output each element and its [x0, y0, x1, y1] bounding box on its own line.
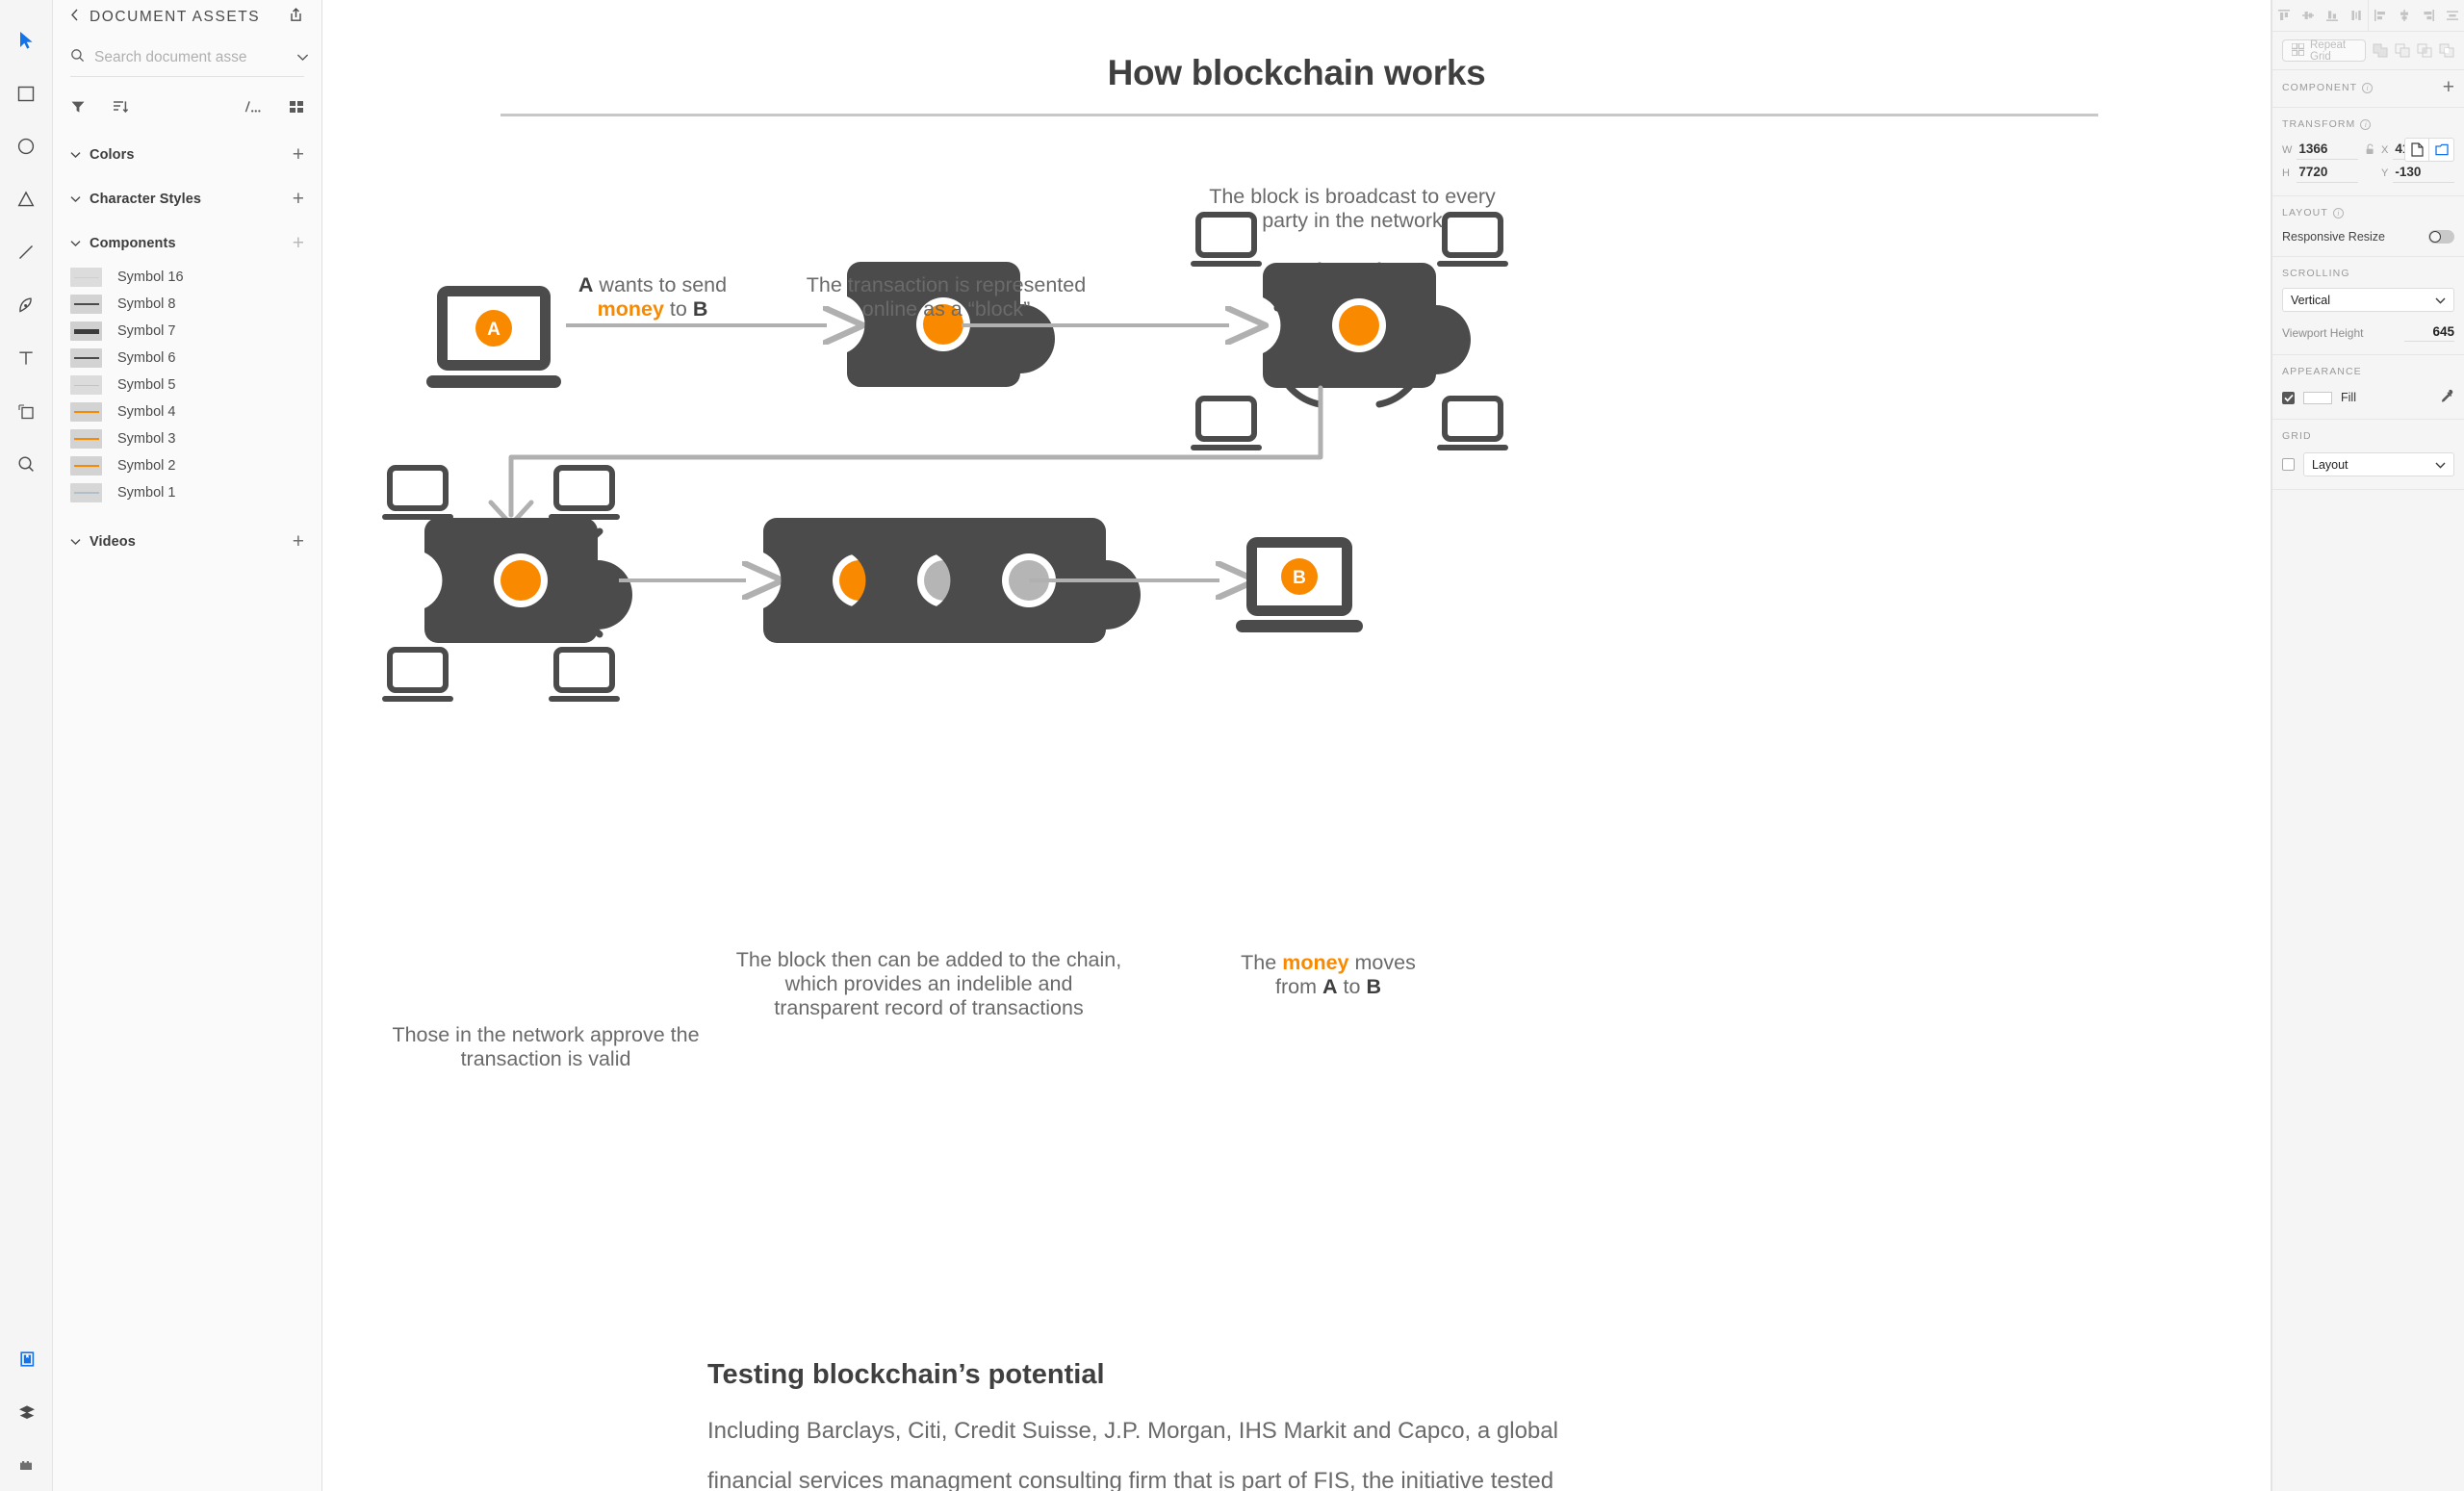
section-label: Character Styles	[90, 192, 201, 207]
distribute-right-icon[interactable]	[2418, 5, 2439, 26]
rectangle-tool[interactable]	[0, 66, 53, 119]
scrolling-value: Vertical	[2291, 294, 2330, 307]
y-input[interactable]	[2393, 163, 2454, 183]
chevron-down-icon[interactable]	[296, 49, 309, 66]
caption-6-money: money	[1282, 951, 1348, 974]
caption-6-from: from	[1275, 975, 1322, 998]
boolean-subtract-icon[interactable]	[2395, 41, 2410, 61]
section-paragraph: Including Barclays, Citi, Credit Suisse,…	[707, 1415, 1959, 1449]
x-label: X	[2381, 144, 2388, 156]
component-label: Symbol 3	[117, 431, 175, 447]
caption-step-3: The block is broadcast to every party in…	[1150, 185, 1554, 233]
component-thumbnail	[70, 402, 102, 422]
svg-text:B: B	[1293, 568, 1306, 588]
layout-section-title: LAYOUT	[2282, 207, 2328, 219]
responsive-resize-label: Responsive Resize	[2282, 230, 2385, 244]
pen-tool[interactable]	[0, 278, 53, 331]
section-label: Components	[90, 236, 176, 251]
layout-section: LAYOUT i Responsive Resize	[2272, 196, 2464, 257]
scrolling-section: SCROLLING Vertical Viewport Height 645	[2272, 257, 2464, 355]
component-list-item[interactable]: Symbol 3	[53, 425, 321, 452]
caption-step-6: The money moves from A to B	[1179, 951, 1477, 999]
share-icon[interactable]	[288, 7, 304, 28]
component-label: Symbol 6	[117, 350, 175, 366]
boolean-exclude-icon[interactable]	[2439, 41, 2454, 61]
caption-1-a: A	[578, 273, 594, 296]
search-row	[70, 46, 304, 77]
assets-section-videos: Videos +	[53, 529, 321, 554]
caption-4-line1: Those in the network approve the	[392, 1023, 699, 1046]
section-heading: Testing blockchain’s potential	[707, 1359, 1105, 1391]
assets-section-components: Components + Symbol 16Symbol 8Symbol 7Sy…	[53, 231, 321, 506]
block-approved	[424, 518, 632, 643]
component-label: Symbol 1	[117, 485, 175, 501]
svg-text:A: A	[487, 320, 500, 340]
fill-row: Fill	[2282, 389, 2454, 406]
y-label: Y	[2381, 167, 2388, 179]
info-icon[interactable]: i	[2362, 83, 2373, 93]
caption-1-text: wants to send	[593, 273, 727, 296]
component-section: COMPONENT i +	[2272, 70, 2464, 108]
caption-step-2: The transaction is represented online as…	[754, 273, 1139, 321]
repeat-grid-label: Repeat Grid	[2310, 39, 2356, 63]
section-header-videos[interactable]: Videos +	[53, 529, 321, 554]
caption-6-moves: moves	[1349, 951, 1416, 974]
info-icon[interactable]: i	[2360, 119, 2371, 130]
ellipse-tool[interactable]	[0, 119, 53, 172]
component-label: Symbol 8	[117, 296, 175, 312]
assets-section-colors: Colors +	[53, 142, 321, 167]
assets-panel-title: DOCUMENT ASSETS	[90, 9, 260, 26]
height-input[interactable]	[2297, 163, 2358, 183]
section-header-colors[interactable]: Colors +	[53, 142, 321, 167]
lock-aspect-icon[interactable]	[2363, 143, 2376, 156]
caption-5-line2: which provides an indelible and	[785, 972, 1073, 995]
align-horizontal-center-icon[interactable]	[2346, 5, 2367, 26]
grid-section: GRID Layout	[2272, 420, 2464, 490]
scrolling-section-title: SCROLLING	[2282, 268, 2350, 279]
caption-1-money: money	[598, 297, 664, 321]
property-inspector: Repeat Grid COMPONENT i +	[2271, 0, 2464, 1491]
artboard-tool[interactable]	[0, 384, 53, 437]
chevron-down-icon	[2435, 458, 2446, 472]
alignment-toolbar	[2272, 0, 2464, 32]
component-list-item[interactable]: Symbol 16	[53, 264, 321, 291]
distribute-horizontal-icon[interactable]	[2442, 5, 2463, 26]
component-thumbnail	[70, 295, 102, 314]
design-canvas[interactable]: How blockchain works	[322, 0, 2271, 1491]
viewport-height-value[interactable]: 645	[2404, 324, 2454, 342]
polygon-tool[interactable]	[0, 172, 53, 225]
component-thumbnail	[70, 348, 102, 368]
caption-step-1: A wants to send money to B	[532, 273, 773, 321]
component-list-item[interactable]: Symbol 4	[53, 398, 321, 425]
height-label: H	[2282, 167, 2292, 179]
grid-row: Layout	[2282, 452, 2454, 476]
xd-window: DOCUMENT ASSETS	[0, 0, 2464, 1491]
chevron-down-icon	[2435, 294, 2446, 307]
chevron-down-icon[interactable]	[70, 235, 81, 252]
caption-2-line1: The transaction is represented	[807, 273, 1086, 296]
component-label: Symbol 2	[117, 458, 175, 474]
caption-2-line2: online as a “block”	[862, 297, 1030, 321]
component-list-item[interactable]: Symbol 6	[53, 345, 321, 372]
repeat-grid-button[interactable]: Repeat Grid	[2282, 39, 2366, 62]
component-thumbnail	[70, 321, 102, 341]
caption-5-line3: transparent record of transactions	[774, 996, 1083, 1019]
component-list-item[interactable]: Symbol 7	[53, 318, 321, 345]
caption-6-a: A	[1322, 975, 1338, 998]
section-header-character-styles[interactable]: Character Styles +	[53, 187, 321, 212]
transform-fields: W X H Y	[2282, 140, 2454, 183]
component-thumbnail	[70, 375, 102, 395]
component-list: Symbol 16Symbol 8Symbol 7Symbol 6Symbol …	[53, 264, 321, 506]
sort-icon[interactable]	[113, 99, 129, 115]
boolean-intersect-icon[interactable]	[2417, 41, 2432, 61]
grid-section-title: GRID	[2282, 430, 2312, 442]
scrolling-select[interactable]: Vertical	[2282, 288, 2454, 312]
caption-6-the: The	[1241, 951, 1282, 974]
responsive-resize-toggle[interactable]	[2428, 230, 2454, 244]
assets-panel-button[interactable]	[0, 1332, 53, 1385]
component-list-item[interactable]: Symbol 1	[53, 479, 321, 506]
appearance-section-title: APPEARANCE	[2282, 366, 2362, 377]
section-paragraph-clipped: financial services managment consulting …	[707, 1465, 1959, 1491]
distribute-left-icon[interactable]	[2370, 5, 2391, 26]
caption-3-line1: The block is broadcast to every	[1209, 185, 1496, 208]
plugins-panel-button[interactable]	[0, 1438, 53, 1491]
info-icon[interactable]: i	[2333, 208, 2344, 219]
line-tool[interactable]	[0, 225, 53, 278]
layers-panel-button[interactable]	[0, 1385, 53, 1438]
repeat-grid-icon	[2292, 43, 2304, 59]
page-icon[interactable]	[2404, 138, 2429, 162]
transform-section-title: TRANSFORM	[2282, 118, 2355, 130]
align-top-icon[interactable]	[2273, 5, 2295, 26]
caption-step-4: Those in the network approve the transac…	[344, 1023, 748, 1071]
grid-view-icon[interactable]	[289, 99, 304, 115]
toolbar-bottom-group	[0, 1332, 53, 1491]
distribute-vertical-icon[interactable]	[2394, 5, 2415, 26]
add-component-button[interactable]: +	[2443, 81, 2454, 94]
add-character-style-button[interactable]: +	[293, 193, 304, 206]
component-label: Symbol 16	[117, 270, 184, 285]
assets-section-character-styles: Character Styles +	[53, 187, 321, 212]
section-label: Colors	[90, 147, 135, 163]
align-bottom-icon[interactable]	[2322, 5, 2343, 26]
broadcast-cluster	[1191, 215, 1508, 450]
width-input[interactable]	[2297, 140, 2358, 160]
chevron-down-icon[interactable]	[70, 146, 81, 164]
transform-section: TRANSFORM i W X H Y	[2272, 108, 2464, 196]
viewport-height-label: Viewport Height	[2282, 326, 2364, 340]
align-vertical-center-icon[interactable]	[2297, 5, 2319, 26]
search-input[interactable]	[94, 49, 287, 66]
section-header-components[interactable]: Components +	[53, 231, 321, 256]
eyedropper-icon[interactable]	[2440, 389, 2454, 406]
component-thumbnail	[70, 483, 102, 502]
filter-icon[interactable]	[70, 99, 86, 115]
left-toolbar	[0, 0, 53, 1491]
caption-6-to: to	[1338, 975, 1367, 998]
chevron-down-icon[interactable]	[70, 191, 81, 208]
repeat-and-boolean-row: Repeat Grid	[2272, 32, 2464, 70]
component-list-item[interactable]: Symbol 2	[53, 452, 321, 479]
component-label: Symbol 7	[117, 323, 175, 339]
component-thumbnail	[70, 429, 102, 449]
section-label: Videos	[90, 534, 136, 550]
search-icon	[70, 48, 85, 67]
chevron-left-icon[interactable]	[70, 9, 79, 26]
chevron-down-icon[interactable]	[70, 533, 81, 551]
viewport-height-row: Viewport Height 645	[2282, 324, 2454, 342]
appearance-section: APPEARANCE Fill	[2272, 355, 2464, 420]
caption-1-b: B	[693, 297, 708, 321]
laptop-b: B	[1236, 537, 1363, 632]
component-list-item[interactable]: Symbol 5	[53, 372, 321, 398]
fill-checkbox[interactable]	[2282, 392, 2295, 404]
path-display-icon[interactable]	[244, 99, 262, 115]
text-tool[interactable]	[0, 331, 53, 384]
grid-checkbox[interactable]	[2282, 458, 2295, 471]
grid-type-select[interactable]: Layout	[2303, 452, 2454, 476]
component-label: Symbol 5	[117, 377, 175, 393]
responsive-resize-row: Responsive Resize	[2282, 230, 2454, 244]
document-assets-panel: DOCUMENT ASSETS	[53, 0, 322, 1491]
add-video-button[interactable]: +	[293, 535, 304, 549]
distribute-group	[2369, 0, 2464, 31]
caption-5-line1: The block then can be added to the chain…	[736, 948, 1121, 971]
grid-type-value: Layout	[2312, 458, 2348, 472]
component-section-title: COMPONENT	[2282, 82, 2357, 93]
component-list-item[interactable]: Symbol 8	[53, 291, 321, 318]
caption-4-line2: transaction is valid	[461, 1047, 631, 1070]
artboard[interactable]: How blockchain works	[322, 0, 2271, 1491]
component-label: Symbol 4	[117, 404, 175, 420]
fill-color-swatch[interactable]	[2303, 392, 2332, 404]
add-component-button[interactable]: +	[293, 237, 304, 250]
assets-filter-row	[70, 90, 304, 123]
component-thumbnail	[70, 268, 102, 287]
assets-header: DOCUMENT ASSETS	[53, 0, 321, 35]
boolean-add-icon[interactable]	[2373, 41, 2388, 61]
add-color-button[interactable]: +	[293, 148, 304, 162]
caption-3-line2: party in the network	[1262, 209, 1443, 232]
caption-step-5: The block then can be added to the chain…	[698, 948, 1160, 1020]
caption-6-b: B	[1366, 975, 1381, 998]
assets-title-row: DOCUMENT ASSETS	[70, 9, 260, 26]
component-thumbnail	[70, 456, 102, 476]
fill-label: Fill	[2341, 391, 2431, 404]
caption-1-to: to	[664, 297, 693, 321]
width-label: W	[2282, 144, 2292, 156]
zoom-tool[interactable]	[0, 437, 53, 490]
select-tool[interactable]	[0, 13, 53, 66]
scroll-icon[interactable]	[2429, 138, 2454, 162]
align-group	[2272, 0, 2369, 31]
